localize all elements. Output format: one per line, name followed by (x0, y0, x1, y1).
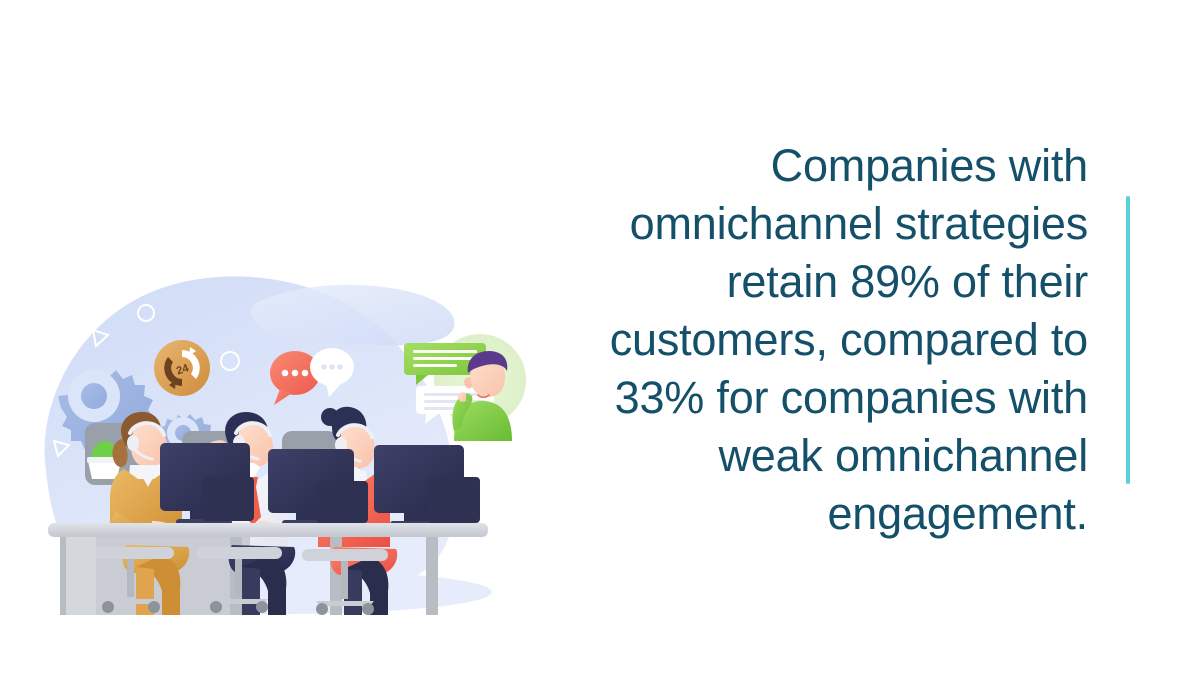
accent-bar (1126, 196, 1130, 484)
illustration-svg: Call center team with headsets at desks … (30, 255, 530, 615)
desk-front-panel (66, 537, 96, 615)
monitor (316, 481, 368, 523)
support-24-icon: 24 (154, 340, 210, 396)
slide-canvas: Call center team with headsets at desks … (0, 0, 1200, 675)
quote-block: Companies with omnichannel strategies re… (470, 190, 1130, 490)
monitor (202, 477, 254, 521)
call-center-illustration: Call center team with headsets at desks … (30, 255, 530, 615)
decor-circle-outline (456, 559, 468, 571)
swoosh-shape (251, 285, 454, 346)
quote-text: Companies with omnichannel strategies re… (534, 137, 1126, 543)
